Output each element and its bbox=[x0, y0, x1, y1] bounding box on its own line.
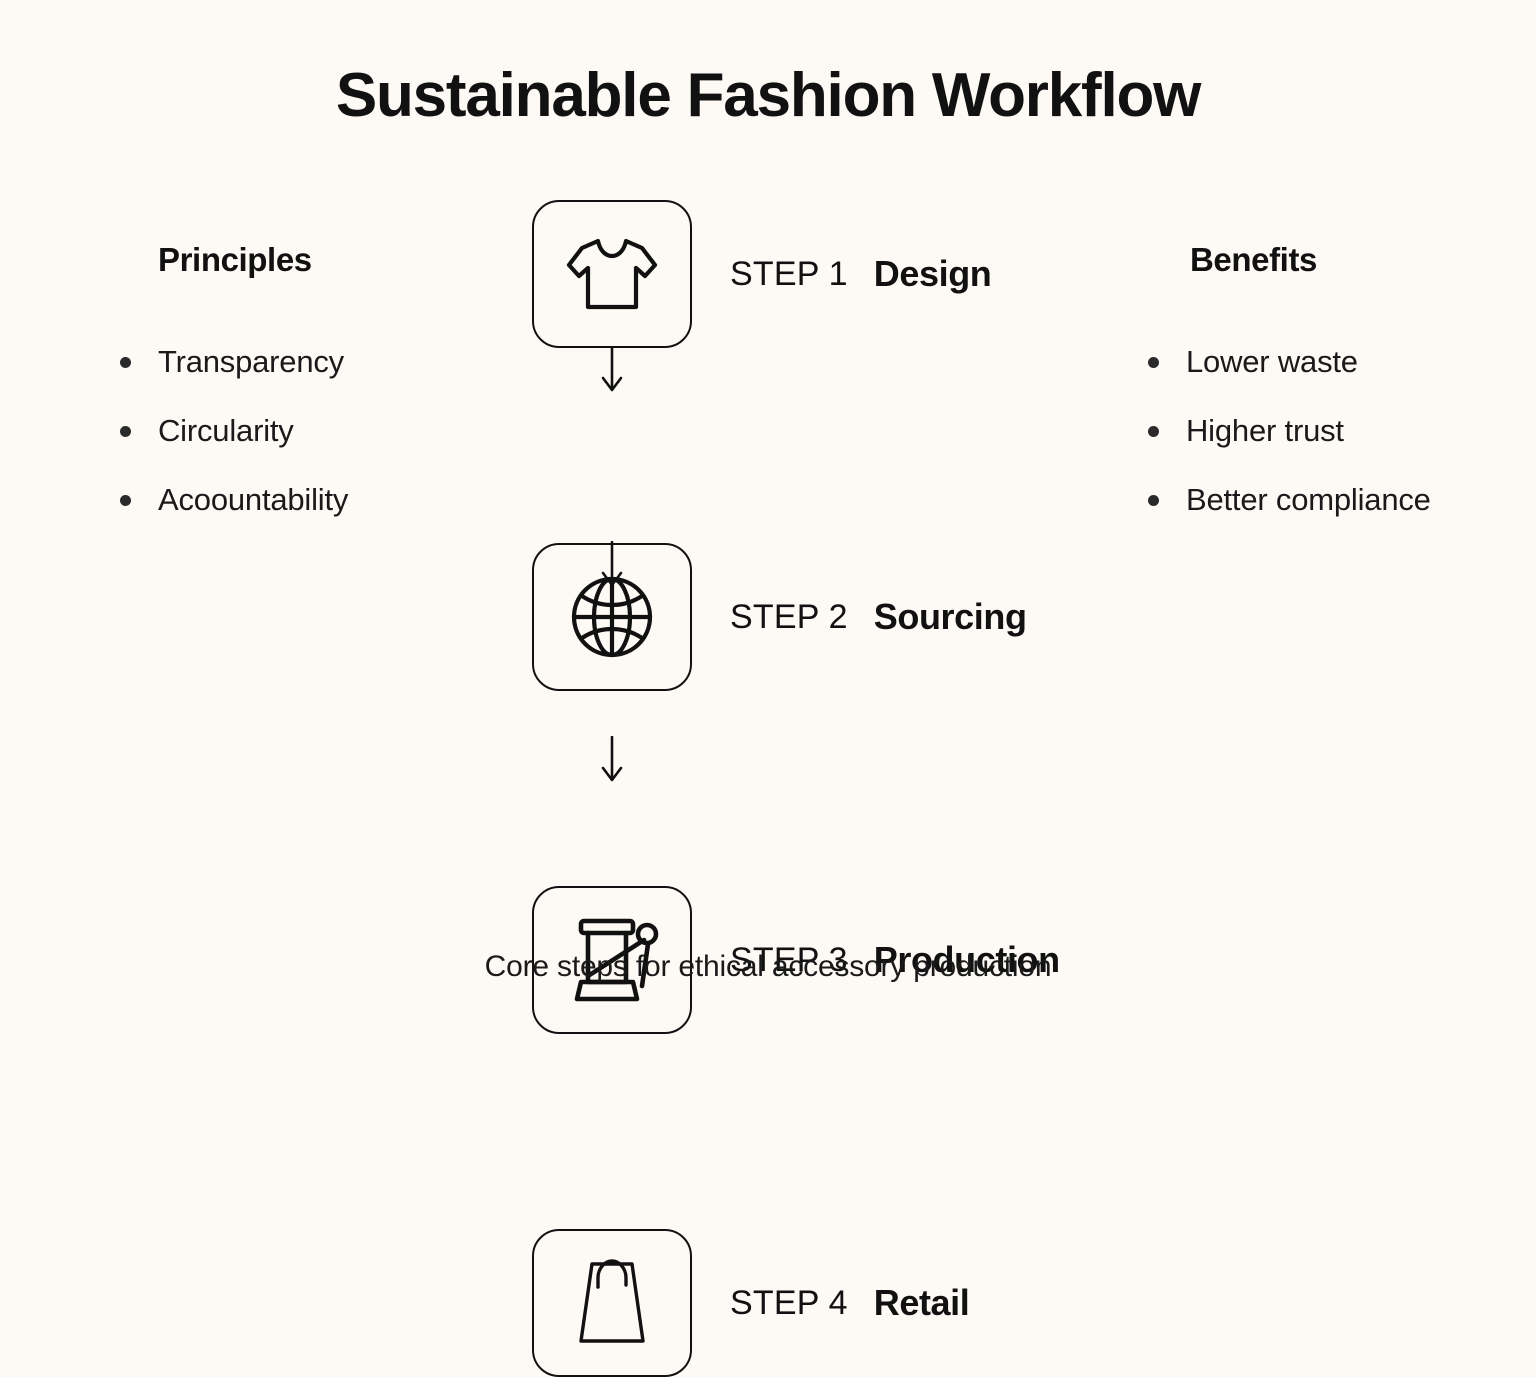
step-2-text: STEP 2 Sourcing bbox=[730, 543, 1027, 691]
caption: Core steps for ethical accessory product… bbox=[0, 950, 1536, 984]
flow-step-2: STEP 2 Sourcing bbox=[0, 543, 1536, 691]
step-1-node[interactable] bbox=[532, 200, 692, 348]
page-title: Sustainable Fashion Workflow bbox=[0, 62, 1536, 130]
slide-canvas: Sustainable Fashion Workflow Principles … bbox=[0, 0, 1536, 1024]
workflow-flow: STEP 1 Design bbox=[0, 200, 1536, 792]
arrow-down-icon bbox=[599, 541, 625, 592]
arrow-down-icon bbox=[599, 346, 625, 397]
step-1-name: Design bbox=[874, 253, 992, 295]
connector-3 bbox=[532, 738, 692, 785]
step-4-text: STEP 4 Retail bbox=[730, 1229, 969, 1377]
step-4-node[interactable] bbox=[532, 1229, 692, 1377]
flow-step-4: STEP 4 Retail bbox=[0, 1229, 1536, 1377]
step-1-number: STEP 1 bbox=[730, 255, 848, 294]
connector-2 bbox=[532, 543, 692, 590]
step-4-number: STEP 4 bbox=[730, 1284, 848, 1323]
flow-step-1: STEP 1 Design bbox=[0, 200, 1536, 348]
connector-1 bbox=[532, 348, 692, 395]
tshirt-icon bbox=[564, 234, 660, 314]
step-1-text: STEP 1 Design bbox=[730, 200, 991, 348]
step-2-number: STEP 2 bbox=[730, 598, 848, 637]
step-4-name: Retail bbox=[874, 1282, 970, 1324]
step-2-name: Sourcing bbox=[874, 596, 1027, 638]
arrow-down-icon bbox=[599, 736, 625, 787]
shopping-bag-icon bbox=[567, 1257, 657, 1349]
